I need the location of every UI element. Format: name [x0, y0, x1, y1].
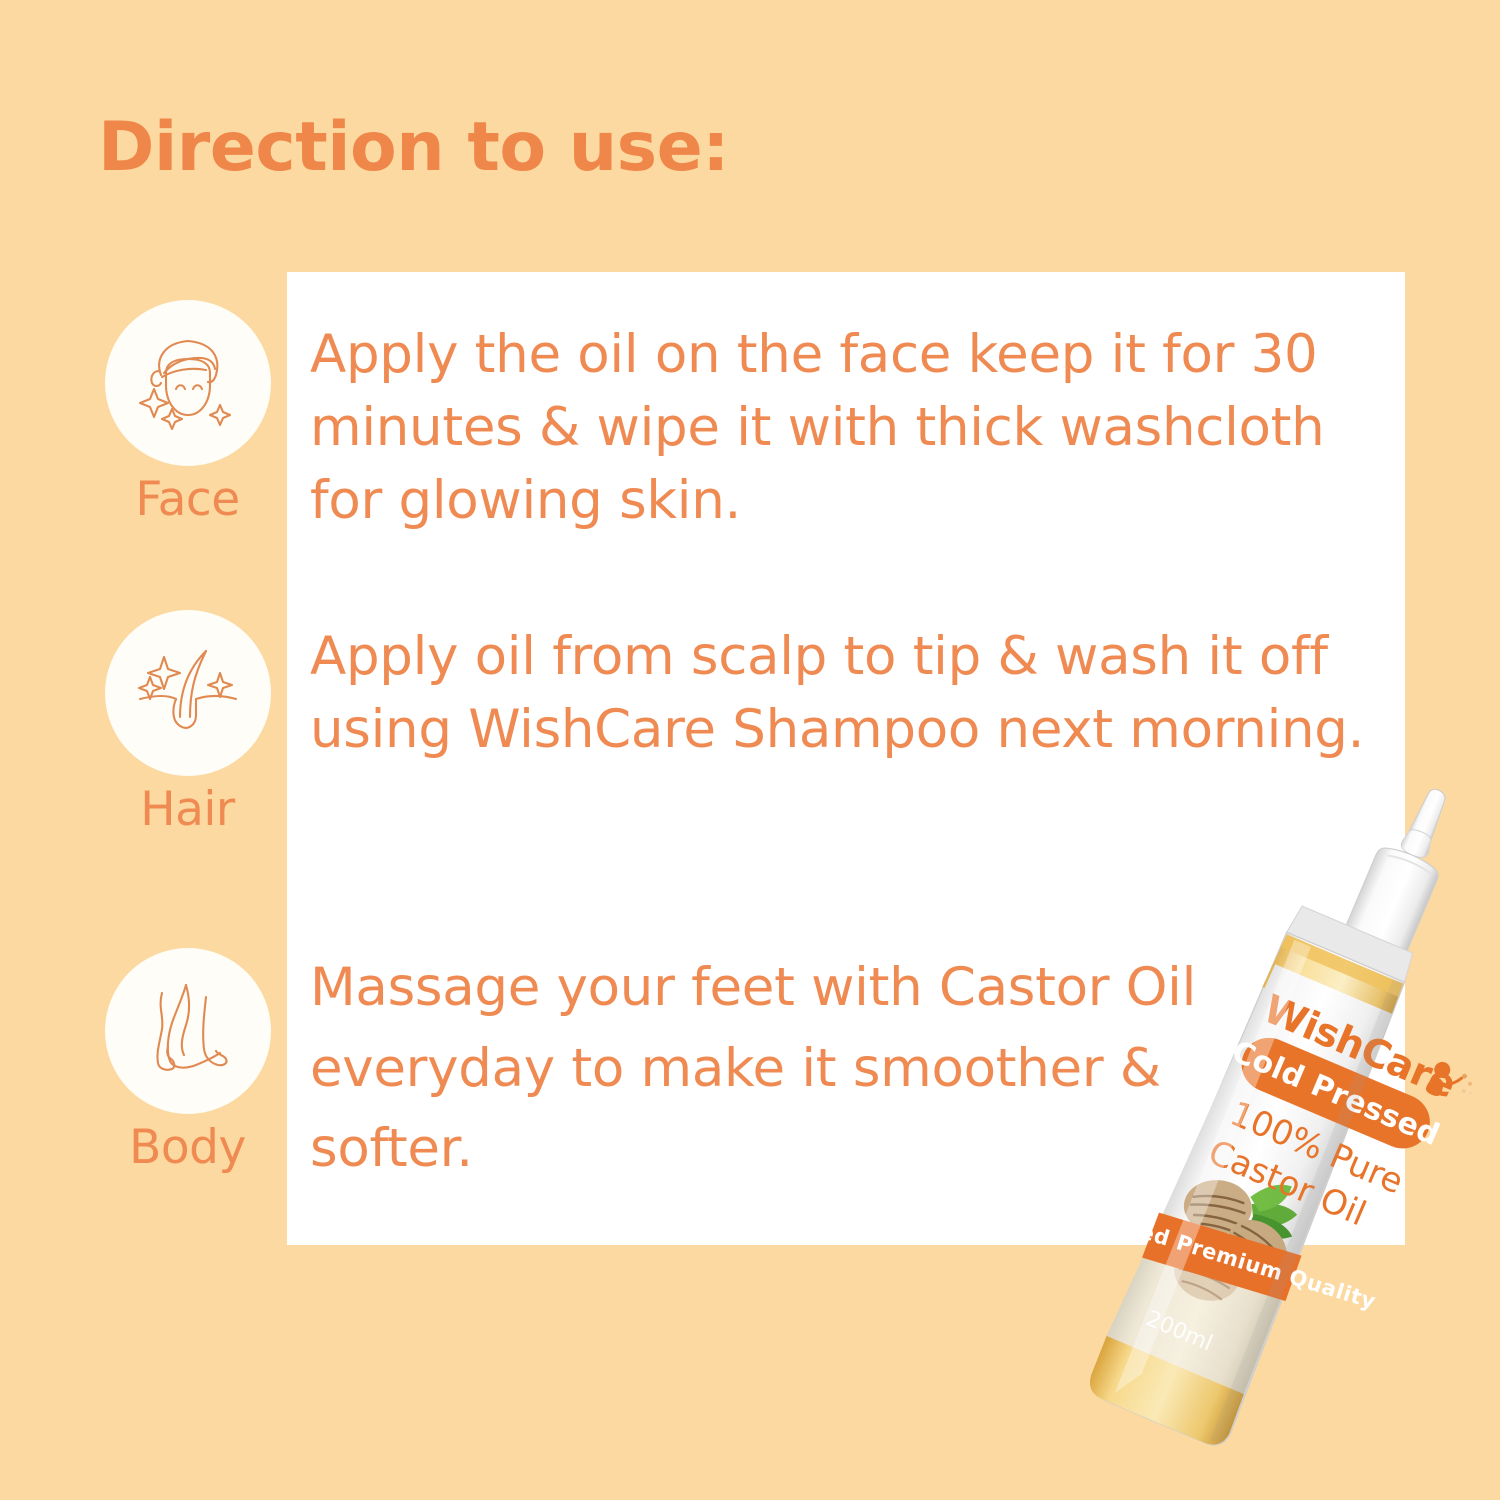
face-icon-circle	[105, 300, 271, 466]
body-icon-circle	[105, 948, 271, 1114]
usage-area-body: Body	[95, 948, 280, 1174]
hair-icon-circle	[105, 610, 271, 776]
face-towel-wrap-icon	[128, 323, 248, 443]
usage-area-face: Face	[95, 300, 280, 526]
instruction-hair: Apply oil from scalp to tip & wash it of…	[310, 620, 1370, 766]
bottle-oil-bottom	[1083, 1336, 1245, 1450]
wishcare-logo-mark-icon	[1424, 1059, 1478, 1109]
legs-feet-icon	[128, 971, 248, 1091]
usage-area-label-face: Face	[95, 474, 280, 526]
instruction-body: Massage your feet with Castor Oil everyd…	[310, 948, 1210, 1190]
instruction-face: Apply the oil on the face keep it for 30…	[310, 318, 1365, 537]
page-title: Direction to use:	[98, 108, 729, 187]
usage-area-label-body: Body	[95, 1122, 280, 1174]
infographic-canvas: Direction to use: Apply the oil on the f…	[0, 0, 1500, 1500]
usage-area-label-hair: Hair	[95, 784, 280, 836]
hair-follicle-icon	[128, 633, 248, 753]
bottle-nozzle	[1399, 785, 1453, 861]
product-volume: 200ml	[1142, 1306, 1216, 1356]
usage-area-hair: Hair	[95, 610, 280, 836]
